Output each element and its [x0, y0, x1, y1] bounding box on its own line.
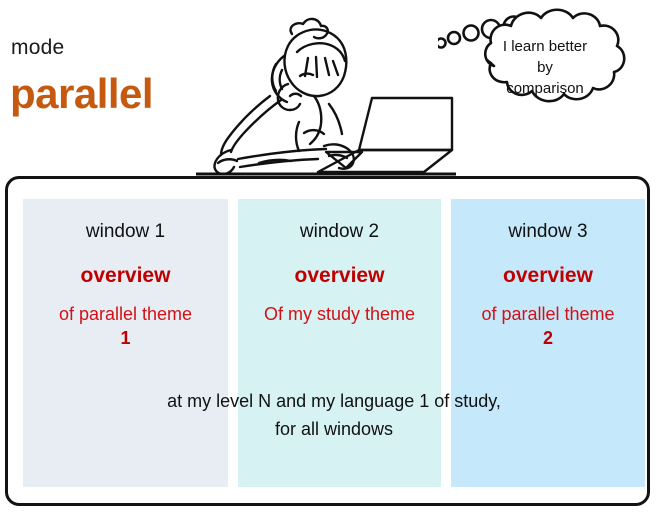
window-panel-1-title: window 1	[23, 221, 228, 243]
window-panel-3-title: window 3	[451, 221, 645, 243]
window-panel-1-subtitle: of parallel theme 1	[23, 302, 228, 350]
thought-bubble-text: I learn better by comparison	[455, 36, 635, 99]
window-panel-3-number: 2	[543, 328, 553, 348]
window-panel-1-subtitle-text: of parallel theme	[59, 304, 192, 324]
window-panel-2-subtitle: Of my study theme	[238, 302, 441, 326]
window-panel-2-title: window 2	[238, 221, 441, 243]
window-panel-1-number: 1	[120, 328, 130, 348]
thought-bubble-line-1: I learn better	[455, 36, 635, 57]
window-panel-3-subtitle: of parallel theme 2	[451, 302, 645, 350]
mode-value: parallel	[10, 71, 153, 117]
thought-bubble-line-2: by	[455, 57, 635, 78]
mode-label: mode	[11, 36, 64, 60]
window-panel-3-subtitle-text: of parallel theme	[481, 304, 614, 324]
window-panel-1-heading: overview	[23, 264, 228, 288]
window-panel-1[interactable]: window 1 overview of parallel theme 1	[23, 199, 228, 487]
window-panel-3-heading: overview	[451, 264, 645, 288]
window-panel-3[interactable]: window 3 overview of parallel theme 2	[451, 199, 645, 487]
window-panel-2-heading: overview	[238, 264, 441, 288]
windows-container: window 1 overview of parallel theme 1 wi…	[5, 176, 650, 506]
window-panel-2[interactable]: window 2 overview Of my study theme	[238, 199, 441, 487]
window-panel-2-subtitle-text: Of my study theme	[264, 304, 415, 324]
header: mode parallel	[0, 0, 656, 176]
thought-bubble-line-3: comparison	[455, 78, 635, 99]
person-at-laptop-illustration	[196, 0, 456, 176]
